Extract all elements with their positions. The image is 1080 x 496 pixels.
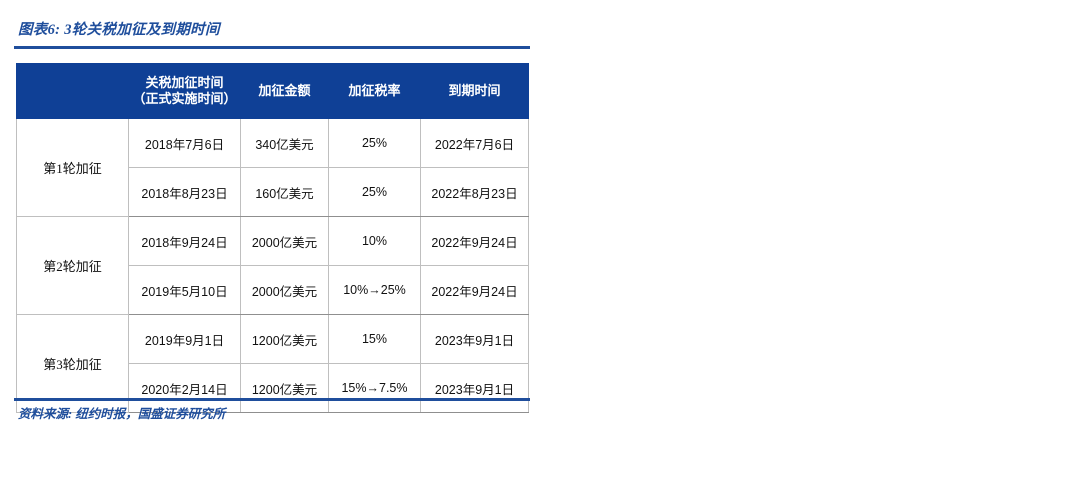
cell-rate: 10%→25% [329, 266, 421, 315]
cell-date: 2018年9月24日 [129, 217, 241, 266]
round-label-cell: 第2轮加征 [17, 217, 129, 315]
left-title-divider [14, 46, 530, 49]
cell-rate: 15% [329, 315, 421, 364]
table-body: 第1轮加征 2018年7月6日 340亿美元 25% 2022年7月6日 201… [17, 119, 529, 413]
left-source-text: 资料来源: 纽约时报，国盛证券研究所 [18, 403, 225, 422]
left-exhibit-title: 图表6: 3轮关税加征及到期时间 [18, 18, 220, 39]
cell-expiry: 2023年9月1日 [421, 364, 529, 413]
cell-amount: 2000亿美元 [241, 217, 329, 266]
cell-rate: 15%→7.5% [329, 364, 421, 413]
cell-expiry: 2022年9月24日 [421, 217, 529, 266]
cell-expiry: 2022年9月24日 [421, 266, 529, 315]
right-panel-exhibit-7: 图表7: 2019年对美出口增速大幅下降 % 对美出口增速 非美出口增速 353… [540, 0, 1080, 443]
figure-page: 图表6: 3轮关税加征及到期时间 关税加征时间 （正式实施时间） 加征金额 [0, 0, 1080, 443]
cell-expiry: 2023年9月1日 [421, 315, 529, 364]
cell-amount: 160亿美元 [241, 168, 329, 217]
cell-date: 2019年5月10日 [129, 266, 241, 315]
cell-date: 2018年7月6日 [129, 119, 241, 168]
cell-date: 2018年8月23日 [129, 168, 241, 217]
th-amount: 加征金额 [241, 64, 329, 119]
table-head: 关税加征时间 （正式实施时间） 加征金额 加征税率 到期时间 [17, 64, 529, 119]
cell-date: 2019年9月1日 [129, 315, 241, 364]
th-rate: 加征税率 [329, 64, 421, 119]
left-panel-exhibit-6: 图表6: 3轮关税加征及到期时间 关税加征时间 （正式实施时间） 加征金额 [0, 0, 540, 443]
cell-expiry: 2022年7月6日 [421, 119, 529, 168]
cell-rate: 10% [329, 217, 421, 266]
left-source-divider [14, 398, 530, 401]
cell-expiry: 2022年8月23日 [421, 168, 529, 217]
tariff-table-wrap: 关税加征时间 （正式实施时间） 加征金额 加征税率 到期时间 第1轮加征 201… [16, 63, 528, 413]
th-round [17, 64, 129, 119]
cell-rate: 25% [329, 119, 421, 168]
tariff-table: 关税加征时间 （正式实施时间） 加征金额 加征税率 到期时间 第1轮加征 201… [16, 63, 529, 413]
th-tariff-date: 关税加征时间 （正式实施时间） [129, 64, 241, 119]
th-expiry: 到期时间 [421, 64, 529, 119]
cell-amount: 1200亿美元 [241, 315, 329, 364]
th-tariff-date-line1: 关税加征时间 [131, 75, 238, 91]
table-header-row: 关税加征时间 （正式实施时间） 加征金额 加征税率 到期时间 [17, 64, 529, 119]
round-label-cell: 第1轮加征 [17, 119, 129, 217]
table-row: 第1轮加征 2018年7月6日 340亿美元 25% 2022年7月6日 [17, 119, 529, 168]
table-row: 第3轮加征 2019年9月1日 1200亿美元 15% 2023年9月1日 [17, 315, 529, 364]
table-row: 第2轮加征 2018年9月24日 2000亿美元 10% 2022年9月24日 [17, 217, 529, 266]
cell-rate: 25% [329, 168, 421, 217]
cell-amount: 340亿美元 [241, 119, 329, 168]
th-tariff-date-line2: （正式实施时间） [131, 91, 238, 107]
cell-amount: 2000亿美元 [241, 266, 329, 315]
cell-amount: 1200亿美元 [241, 364, 329, 413]
left-exhibit-title-wrap: 图表6: 3轮关税加征及到期时间 [18, 18, 220, 39]
